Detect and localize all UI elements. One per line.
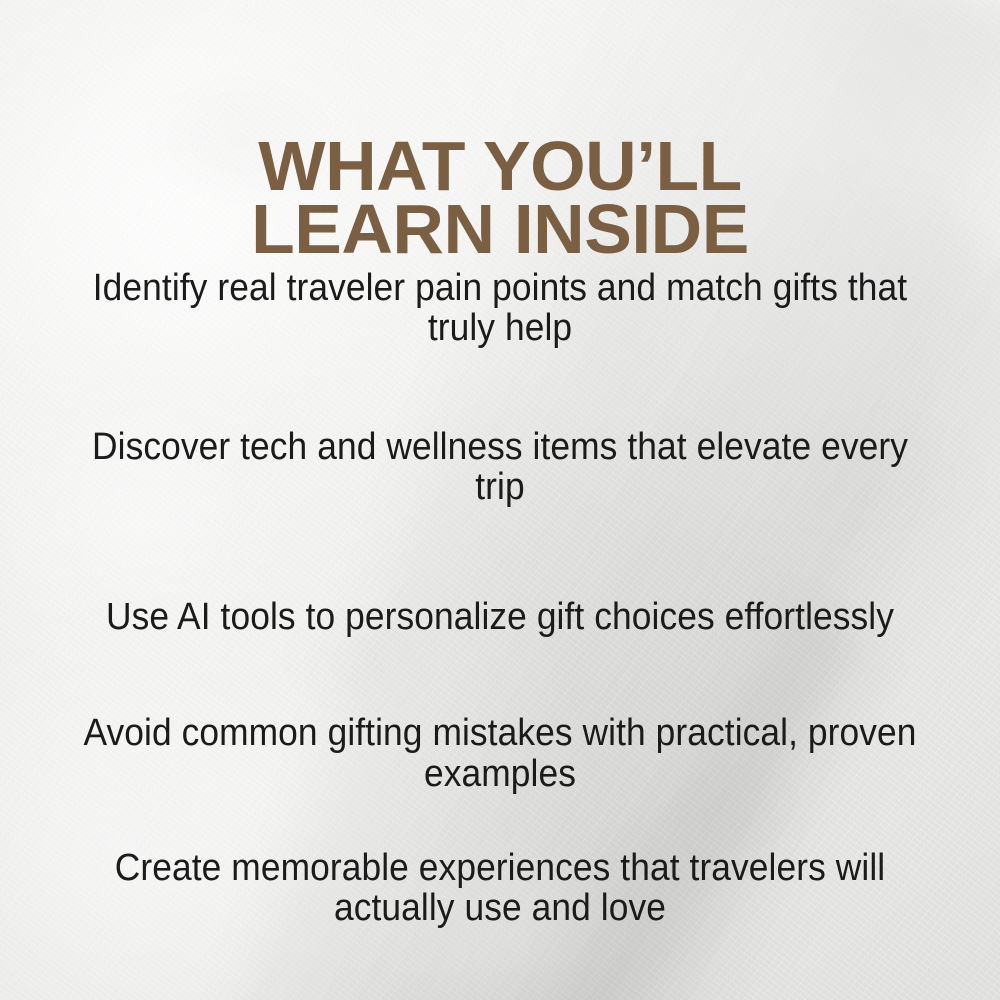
benefit-item-4: Avoid common gifting mistakes with pract… bbox=[82, 713, 919, 794]
page-title: WHAT YOU’LL LEARN INSIDE bbox=[0, 135, 1000, 261]
benefits-list: Identify real traveler pain points and m… bbox=[50, 268, 950, 966]
slide-canvas: WHAT YOU’LL LEARN INSIDE Identify real t… bbox=[0, 0, 1000, 1000]
slide-content: WHAT YOU’LL LEARN INSIDE Identify real t… bbox=[0, 0, 1000, 1000]
benefit-item-2: Discover tech and wellness items that el… bbox=[82, 427, 919, 508]
benefit-item-1: Identify real traveler pain points and m… bbox=[82, 268, 919, 349]
page-title-line-1: WHAT YOU’LL bbox=[0, 135, 1000, 198]
page-title-line-2: LEARN INSIDE bbox=[0, 198, 1000, 261]
benefit-item-3: Use AI tools to personalize gift choices… bbox=[82, 597, 919, 637]
benefit-item-5: Create memorable experiences that travel… bbox=[82, 848, 919, 929]
